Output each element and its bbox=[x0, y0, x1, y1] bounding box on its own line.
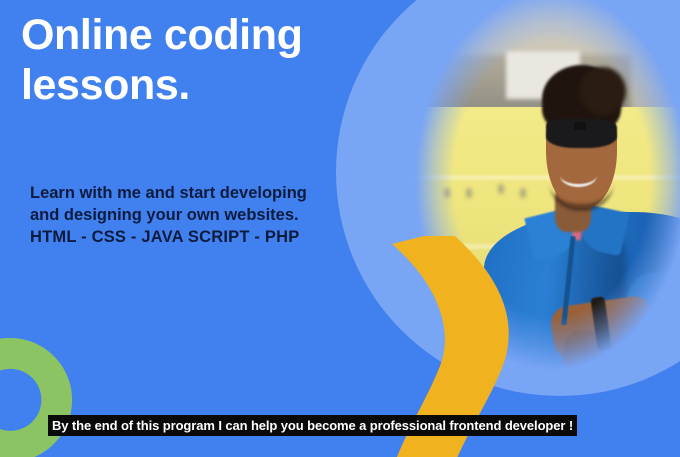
subcopy-block: Learn with me and start developing and d… bbox=[30, 183, 360, 249]
person-hair-highlight bbox=[580, 67, 625, 115]
subcopy-tech-list: HTML - CSS - JAVA SCRIPT - PHP bbox=[30, 227, 360, 249]
person-smile bbox=[560, 164, 597, 187]
bottom-banner: By the end of this program I can help yo… bbox=[48, 415, 577, 436]
subcopy-line-2: and designing your own websites. bbox=[30, 205, 360, 227]
subcopy-line-1: Learn with me and start developing bbox=[30, 183, 360, 205]
green-ring-decoration bbox=[0, 328, 82, 457]
sunglasses-bridge bbox=[574, 122, 585, 130]
promo-poster: Online coding lessons. Learn with me and… bbox=[0, 0, 680, 457]
page-title: Online coding lessons. bbox=[21, 11, 351, 111]
green-ring-path bbox=[0, 328, 82, 457]
